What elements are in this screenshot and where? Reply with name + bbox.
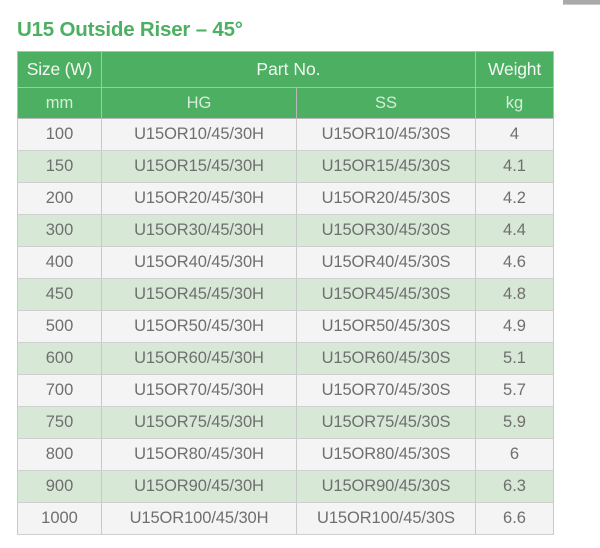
cell-size: 750 xyxy=(18,407,102,439)
cell-weight: 5.9 xyxy=(476,407,554,439)
column-header-size: Size (W) xyxy=(18,52,102,88)
table-row: 500U15OR50/45/30HU15OR50/45/30S4.9 xyxy=(18,311,554,343)
cell-part-no-hg: U15OR50/45/30H xyxy=(102,311,297,343)
column-header-weight: Weight xyxy=(476,52,554,88)
cell-size: 800 xyxy=(18,439,102,471)
table-row: 900U15OR90/45/30HU15OR90/45/30S6.3 xyxy=(18,471,554,503)
cell-weight: 5.7 xyxy=(476,375,554,407)
cell-part-no-hg: U15OR100/45/30H xyxy=(102,503,297,535)
column-header-unit-kg: kg xyxy=(476,88,554,119)
table-row: 400U15OR40/45/30HU15OR40/45/30S4.6 xyxy=(18,247,554,279)
cell-size: 700 xyxy=(18,375,102,407)
cell-weight: 4.4 xyxy=(476,215,554,247)
cell-weight: 4.2 xyxy=(476,183,554,215)
table-row: 300U15OR30/45/30HU15OR30/45/30S4.4 xyxy=(18,215,554,247)
cell-weight: 4.6 xyxy=(476,247,554,279)
cell-part-no-ss: U15OR40/45/30S xyxy=(297,247,476,279)
table-row: 800U15OR80/45/30HU15OR80/45/30S6 xyxy=(18,439,554,471)
cell-part-no-ss: U15OR75/45/30S xyxy=(297,407,476,439)
cell-size: 100 xyxy=(18,119,102,151)
cell-size: 600 xyxy=(18,343,102,375)
cell-part-no-hg: U15OR30/45/30H xyxy=(102,215,297,247)
cell-part-no-hg: U15OR75/45/30H xyxy=(102,407,297,439)
cell-part-no-ss: U15OR45/45/30S xyxy=(297,279,476,311)
column-header-unit-hg: HG xyxy=(102,88,297,119)
cell-size: 500 xyxy=(18,311,102,343)
table-body: 100U15OR10/45/30HU15OR10/45/30S4150U15OR… xyxy=(18,119,554,535)
cell-part-no-ss: U15OR100/45/30S xyxy=(297,503,476,535)
cell-part-no-ss: U15OR30/45/30S xyxy=(297,215,476,247)
cell-weight: 6.6 xyxy=(476,503,554,535)
column-header-unit-mm: mm xyxy=(18,88,102,119)
cell-part-no-hg: U15OR90/45/30H xyxy=(102,471,297,503)
table-row: 600U15OR60/45/30HU15OR60/45/30S5.1 xyxy=(18,343,554,375)
cell-size: 200 xyxy=(18,183,102,215)
cell-part-no-hg: U15OR80/45/30H xyxy=(102,439,297,471)
column-header-unit-ss: SS xyxy=(297,88,476,119)
cell-part-no-hg: U15OR40/45/30H xyxy=(102,247,297,279)
cell-weight: 6 xyxy=(476,439,554,471)
cell-weight: 5.1 xyxy=(476,343,554,375)
table-row: 750U15OR75/45/30HU15OR75/45/30S5.9 xyxy=(18,407,554,439)
table-row: 100U15OR10/45/30HU15OR10/45/30S4 xyxy=(18,119,554,151)
page-title: U15 Outside Riser – 45° xyxy=(17,18,243,42)
cell-size: 1000 xyxy=(18,503,102,535)
table-header-unit-row: mm HG SS kg xyxy=(18,88,554,119)
table-row: 150U15OR15/45/30HU15OR15/45/30S4.1 xyxy=(18,151,554,183)
table-row: 200U15OR20/45/30HU15OR20/45/30S4.2 xyxy=(18,183,554,215)
cell-part-no-ss: U15OR60/45/30S xyxy=(297,343,476,375)
cell-part-no-ss: U15OR80/45/30S xyxy=(297,439,476,471)
cell-part-no-ss: U15OR20/45/30S xyxy=(297,183,476,215)
product-spec-table: Size (W) Part No. Weight mm HG SS kg 100… xyxy=(17,51,554,535)
table-row: 700U15OR70/45/30HU15OR70/45/30S5.7 xyxy=(18,375,554,407)
cell-part-no-hg: U15OR45/45/30H xyxy=(102,279,297,311)
cell-size: 900 xyxy=(18,471,102,503)
cell-part-no-hg: U15OR15/45/30H xyxy=(102,151,297,183)
cell-part-no-ss: U15OR90/45/30S xyxy=(297,471,476,503)
cell-part-no-hg: U15OR20/45/30H xyxy=(102,183,297,215)
cell-weight: 4.1 xyxy=(476,151,554,183)
cell-part-no-ss: U15OR15/45/30S xyxy=(297,151,476,183)
cell-part-no-ss: U15OR10/45/30S xyxy=(297,119,476,151)
cell-part-no-ss: U15OR70/45/30S xyxy=(297,375,476,407)
cell-weight: 4 xyxy=(476,119,554,151)
table-header: Size (W) Part No. Weight mm HG SS kg xyxy=(18,52,554,119)
table-row: 1000U15OR100/45/30HU15OR100/45/30S6.6 xyxy=(18,503,554,535)
table-row: 450U15OR45/45/30HU15OR45/45/30S4.8 xyxy=(18,279,554,311)
column-header-part-no: Part No. xyxy=(102,52,476,88)
cell-part-no-hg: U15OR10/45/30H xyxy=(102,119,297,151)
table-header-group-row: Size (W) Part No. Weight xyxy=(18,52,554,88)
scrollbar-nub[interactable] xyxy=(563,0,600,5)
cell-weight: 6.3 xyxy=(476,471,554,503)
cell-size: 450 xyxy=(18,279,102,311)
cell-weight: 4.9 xyxy=(476,311,554,343)
cell-size: 400 xyxy=(18,247,102,279)
cell-weight: 4.8 xyxy=(476,279,554,311)
cell-part-no-hg: U15OR70/45/30H xyxy=(102,375,297,407)
cell-part-no-hg: U15OR60/45/30H xyxy=(102,343,297,375)
cell-size: 150 xyxy=(18,151,102,183)
cell-part-no-ss: U15OR50/45/30S xyxy=(297,311,476,343)
cell-size: 300 xyxy=(18,215,102,247)
